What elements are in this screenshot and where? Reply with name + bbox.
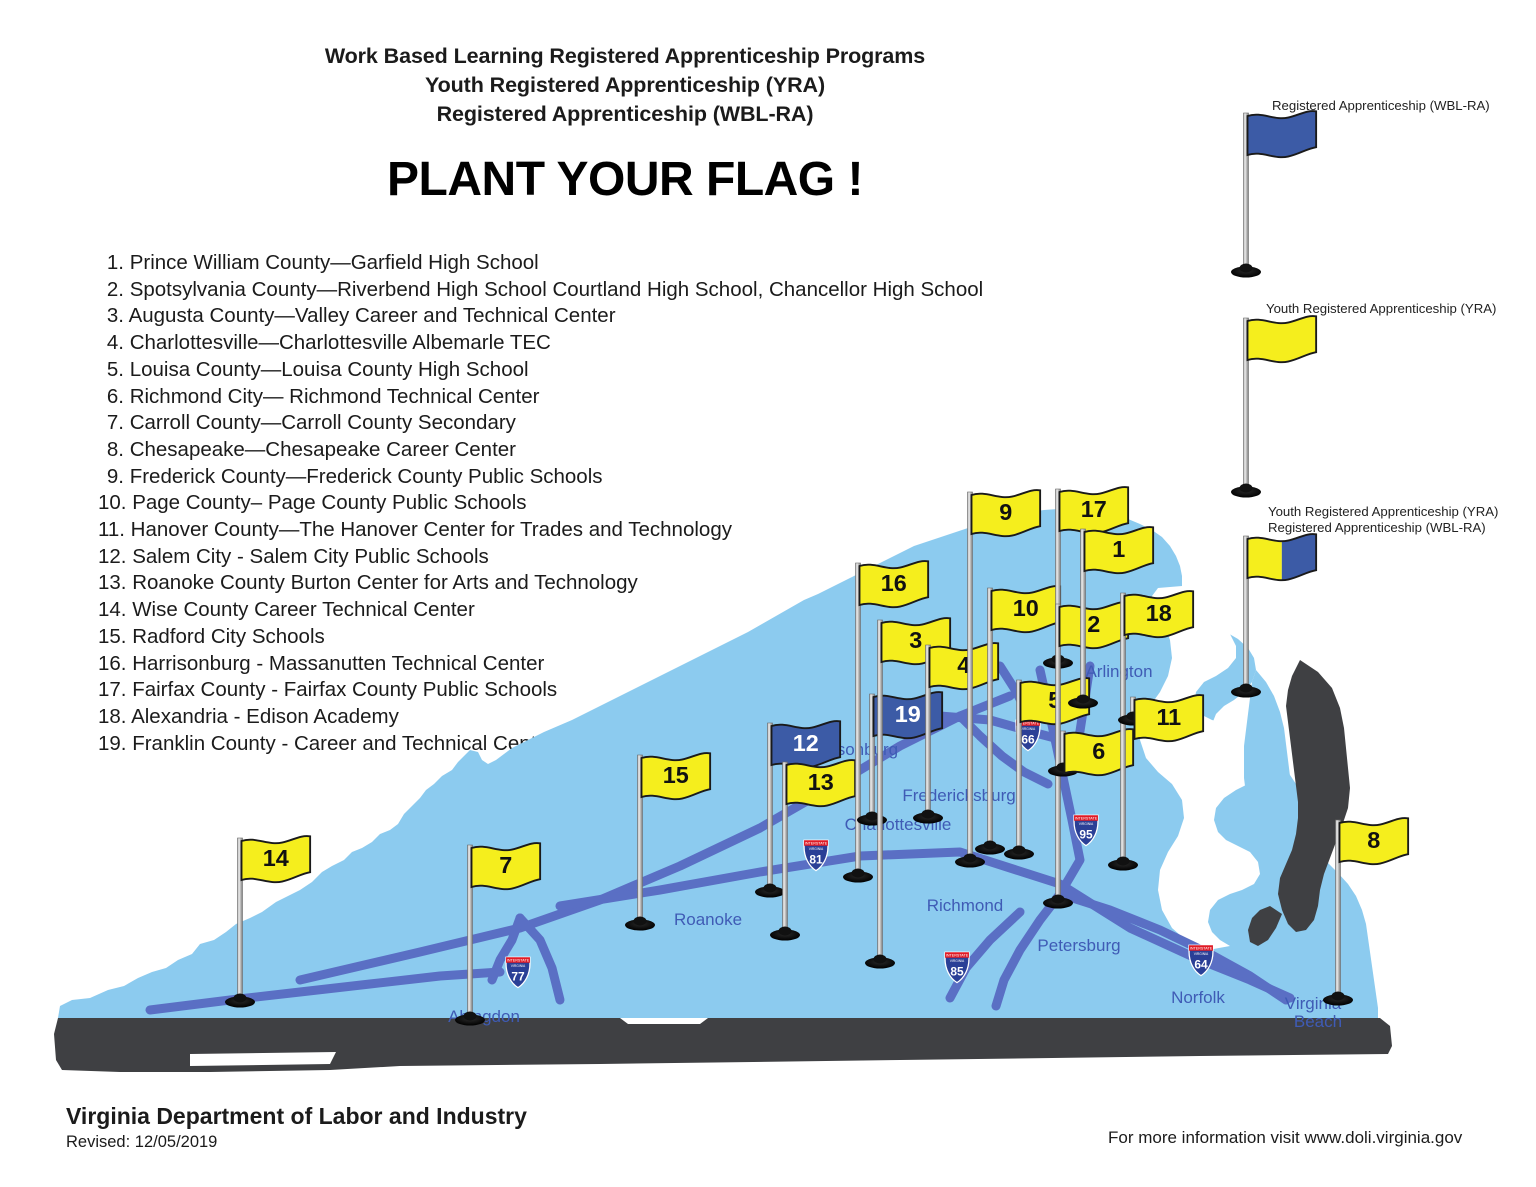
legend-label-line-1: Registered Apprenticeship (WBL-RA) [1272,98,1490,114]
flag-banner [1248,316,1317,362]
flag-base-knob [1240,264,1253,273]
city-label: Fairfax [1020,700,1072,719]
shield-state-text: VIRGINIA [511,964,526,968]
city-label: Fredericksburg [902,786,1015,805]
shield-route-number: 81 [809,852,823,866]
list-item: 5. Louisa County—Louisa County High Scho… [98,357,1058,384]
list-item: 4. Charlottesville—Charlottesville Albem… [98,330,1058,357]
city-label: Petersburg [1037,936,1120,955]
shield-route-number: 66 [1021,732,1035,746]
city-label: Harrisonburg [800,740,898,759]
list-item-number: 6. [98,384,124,411]
revision-date: Revised: 12/05/2019 [66,1133,527,1152]
shield-top-text: INTERSTATE [1017,721,1040,725]
list-item-label: Augusta County—Valley Career and Technic… [124,304,616,327]
list-item-label: Prince William County—Garfield High Scho… [124,251,539,274]
legend-label-line-2: Registered Apprenticeship (WBL-RA) [1268,520,1498,536]
city-label: Abingdon [448,1007,520,1026]
map-base-slab [54,1012,1392,1072]
list-item-label: Louisa County—Louisa County High School [124,358,529,381]
city-label: Beach [1294,1012,1342,1031]
city-label: Virginia [1285,994,1342,1013]
list-item-number: 1. [98,250,124,277]
shield-top-text: INTERSTATE [946,953,969,957]
footer-info: For more information visit www.doli.virg… [1108,1128,1462,1148]
shield-state-text: VIRGINIA [950,959,965,963]
poster-page: Work Based Learning Registered Apprentic… [0,0,1536,1187]
legend-label-both: Youth Registered Apprenticeship (YRA)Reg… [1268,504,1498,536]
list-item: 1. Prince William County—Garfield High S… [98,250,1058,277]
header-line-2: Youth Registered Apprenticeship (YRA) [0,71,1250,100]
shield-top-text: INTERSTATE [1075,816,1098,820]
header-line-3: Registered Apprenticeship (WBL-RA) [0,100,1250,129]
list-item: 3. Augusta County—Valley Career and Tech… [98,303,1058,330]
shield-state-text: VIRGINIA [1021,727,1036,731]
flag-base [1231,267,1261,278]
footer-left: Virginia Department of Labor and Industr… [66,1103,527,1152]
city-label: Roanoke [674,910,742,929]
list-item: 2. Spotsylvania County—Riverbend High Sc… [98,277,1058,304]
legend-label-line-1: Youth Registered Apprenticeship (YRA) [1268,504,1498,520]
list-item-label: Charlottesville—Charlottesville Albemarl… [124,331,551,354]
city-label: Arlington [1085,662,1152,681]
list-item-label: Richmond City— Richmond Technical Center [124,385,540,408]
shield-top-text: INTERSTATE [805,841,828,845]
list-item-number: 3. [98,303,124,330]
list-item: 6. Richmond City— Richmond Technical Cen… [98,384,1058,411]
shield-route-number: 64 [1194,957,1208,971]
flag-cloth [1248,316,1317,362]
header-block: Work Based Learning Registered Apprentic… [0,42,1250,129]
org-name: Virginia Department of Labor and Industr… [66,1103,527,1130]
list-item-label: Spotsylvania County—Riverbend High Schoo… [124,278,983,301]
legend-label-yra: Youth Registered Apprenticeship (YRA) [1266,301,1496,317]
list-item-number: 4. [98,330,124,357]
page-title: PLANT YOUR FLAG ! [0,152,1250,207]
shield-state-text: VIRGINIA [1194,952,1209,956]
flag-cloth [1248,111,1317,157]
shield-route-number: 95 [1079,827,1093,841]
city-label: Norfolk [1171,988,1225,1007]
city-label: Richmond [927,896,1004,915]
shield-route-number: 85 [950,964,964,978]
shield-top-text: INTERSTATE [1190,946,1213,950]
header-line-1: Work Based Learning Registered Apprentic… [0,42,1250,71]
list-item-number: 2. [98,277,124,304]
shield-top-text: INTERSTATE [507,958,530,962]
shield-state-text: VIRGINIA [809,847,824,851]
list-item-number: 5. [98,357,124,384]
legend-label-wbl-ra: Registered Apprenticeship (WBL-RA) [1272,98,1490,114]
legend-label-line-1: Youth Registered Apprenticeship (YRA) [1266,301,1496,317]
shield-route-number: 77 [511,969,525,983]
shield-state-text: VIRGINIA [1079,822,1094,826]
city-label: Charlottesville [845,815,952,834]
flag-banner [1248,111,1317,157]
